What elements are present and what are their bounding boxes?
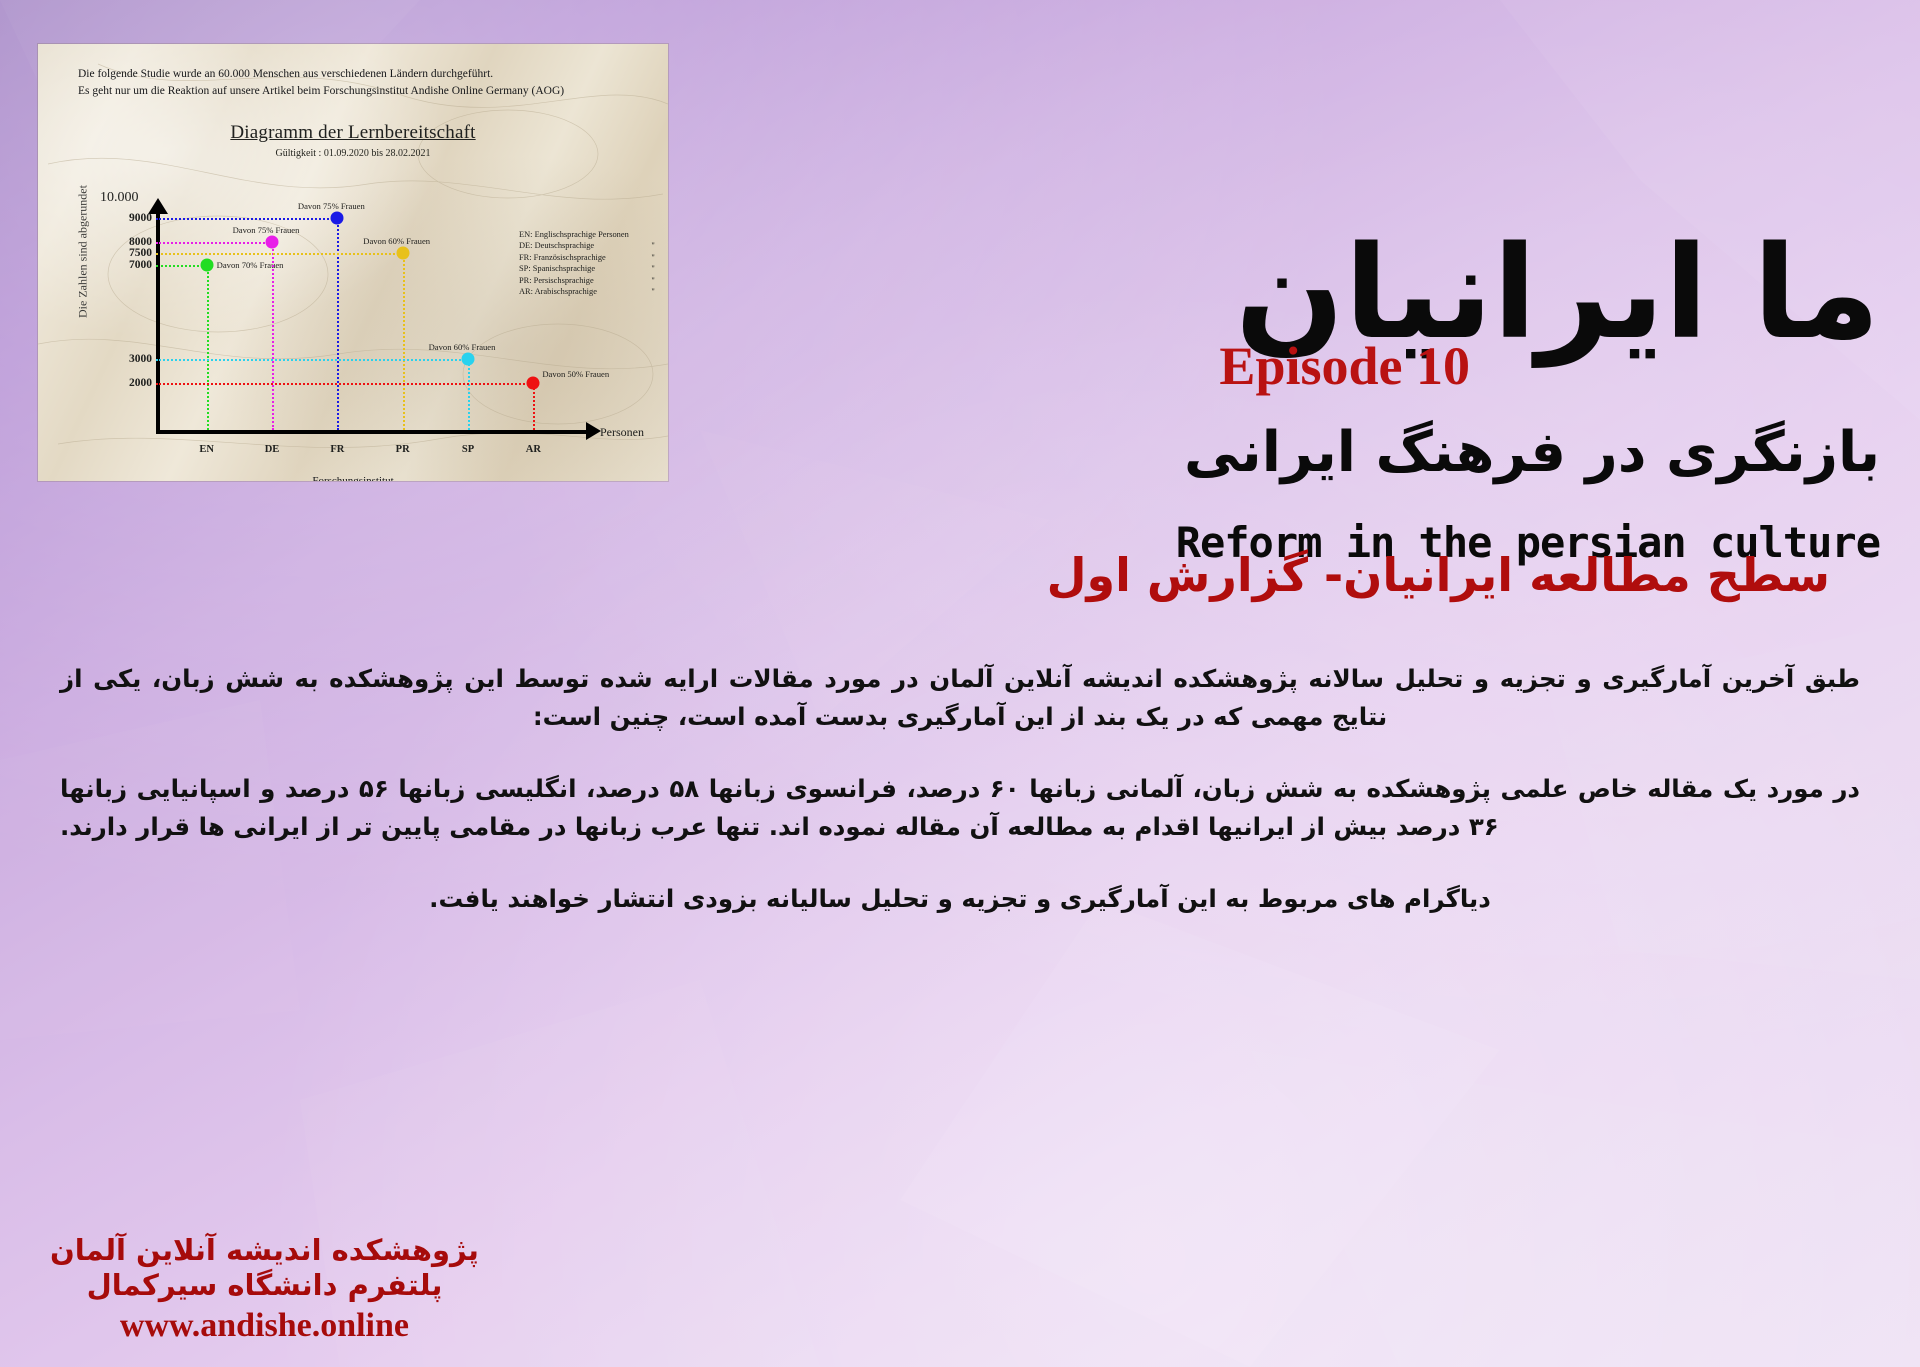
legend-item-ditto: " — [625, 286, 654, 297]
gridline-horizontal — [156, 242, 272, 244]
data-point-label: Davon 60% Frauen — [429, 342, 496, 352]
institute-line1: Forschungsinstitut — [38, 474, 668, 481]
chart-card: Die folgende Studie wurde an 60.000 Mens… — [38, 44, 668, 481]
gridline-vertical — [533, 383, 535, 430]
y-tick-label: 7500 — [129, 247, 152, 259]
study-note-line2: Es geht nur um die Reaktion auf unsere A… — [78, 83, 638, 100]
institute-credit: Forschungsinstitut "Andishe Online-Germa… — [38, 474, 668, 481]
hero-header: ما ایرانیان Episode 10 بازنگری در فرهنگ … — [690, 120, 1890, 480]
gridline-vertical — [207, 265, 209, 430]
x-axis-arrow — [586, 422, 601, 440]
y-tick-label: 9000 — [129, 212, 152, 224]
data-point-en[interactable] — [200, 259, 213, 272]
report-paragraph-2: در مورد یک مقاله خاص علمی پژوهشکده به شش… — [60, 770, 1860, 846]
data-point-label: Davon 60% Frauen — [363, 236, 430, 246]
legend-item: FR: Französischsprachige" — [519, 252, 655, 263]
gridline-vertical — [337, 218, 339, 430]
y-tick-label: 7000 — [129, 259, 152, 271]
legend-item-label: PR: Persischsprachige — [519, 275, 594, 286]
x-tick-label-fr: FR — [330, 444, 344, 455]
data-point-ar[interactable] — [527, 376, 540, 389]
gridline-horizontal — [156, 253, 403, 255]
episode-badge: Episode 10 — [690, 335, 1470, 397]
legend-item-label: SP: Spanischsprachige — [519, 263, 595, 274]
gridline-vertical — [403, 253, 405, 430]
data-point-label: Davon 50% Frauen — [542, 369, 609, 379]
report-heading: سطح مطالعه ایرانیان- گزارش اول — [630, 548, 1830, 602]
x-axis-line — [156, 430, 588, 434]
footer-website[interactable]: www.andishe.online — [50, 1307, 479, 1345]
legend-item-ditto: " — [625, 275, 654, 286]
footer-institute: پژوهشکده اندیشه آنلاین آلمان — [50, 1233, 479, 1268]
legend-item-label: DE: Deutschsprachige — [519, 240, 594, 251]
legend-item-ditto: " — [625, 252, 654, 263]
data-point-fr[interactable] — [331, 212, 344, 225]
study-note: Die folgende Studie wurde an 60.000 Mens… — [78, 66, 638, 99]
x-tick-label-sp: SP — [462, 444, 474, 455]
gridline-vertical — [272, 242, 274, 430]
data-point-pr[interactable] — [396, 247, 409, 260]
legend-item: EN: Englischsprachige Personen — [519, 229, 655, 240]
y-tick-label: 3000 — [129, 353, 152, 365]
legend-item: AR: Arabischsprachige" — [519, 286, 655, 297]
gridline-horizontal — [156, 265, 207, 267]
x-tick-label-pr: PR — [396, 444, 410, 455]
y-axis-ticks: 900080007500700030002000 — [38, 44, 152, 434]
legend-item: SP: Spanischsprachige" — [519, 263, 655, 274]
gridline-vertical — [468, 359, 470, 430]
x-tick-label-de: DE — [265, 444, 280, 455]
legend-item-label: AR: Arabischsprachige — [519, 286, 597, 297]
legend-item-ditto: " — [625, 240, 654, 251]
footer: پژوهشکده اندیشه آنلاین آلمان پلتفرم دانش… — [50, 1233, 479, 1345]
legend-item: PR: Persischsprachige" — [519, 275, 655, 286]
study-note-line1: Die folgende Studie wurde an 60.000 Mens… — [78, 66, 638, 83]
x-tick-label-ar: AR — [526, 444, 541, 455]
report-paragraph-1: طبق آخرین آمارگیری و تجزیه و تحلیل سالان… — [60, 660, 1860, 736]
y-tick-label: 2000 — [129, 377, 152, 389]
legend-item: DE: Deutschsprachige" — [519, 240, 655, 251]
legend-item-ditto: " — [625, 263, 654, 274]
data-point-de[interactable] — [266, 235, 279, 248]
x-tick-label-en: EN — [199, 444, 214, 455]
data-point-label: Davon 75% Frauen — [298, 201, 365, 211]
legend-item-ditto — [629, 229, 655, 240]
report-paragraph-3: دیاگرام های مربوط به این آمارگیری و تجزی… — [60, 880, 1860, 918]
hero-subtitle-fa: بازنگری در فرهنگ ایرانی — [1184, 420, 1880, 485]
gridline-horizontal — [156, 383, 533, 385]
legend-item-label: EN: Englischsprachige Personen — [519, 229, 629, 240]
report-body: طبق آخرین آمارگیری و تجزیه و تحلیل سالان… — [60, 660, 1860, 918]
y-tick-label: 8000 — [129, 236, 152, 248]
legend-item-label: FR: Französischsprachige — [519, 252, 606, 263]
data-point-label: Davon 75% Frauen — [233, 225, 300, 235]
gridline-horizontal — [156, 218, 337, 220]
data-point-sp[interactable] — [462, 353, 475, 366]
chart-legend: EN: Englischsprachige PersonenDE: Deutsc… — [519, 229, 655, 298]
x-axis-label: Personen — [600, 425, 644, 440]
footer-platform: پلتفرم دانشگاه سیرکمال — [50, 1267, 479, 1305]
gridline-horizontal — [156, 359, 468, 361]
